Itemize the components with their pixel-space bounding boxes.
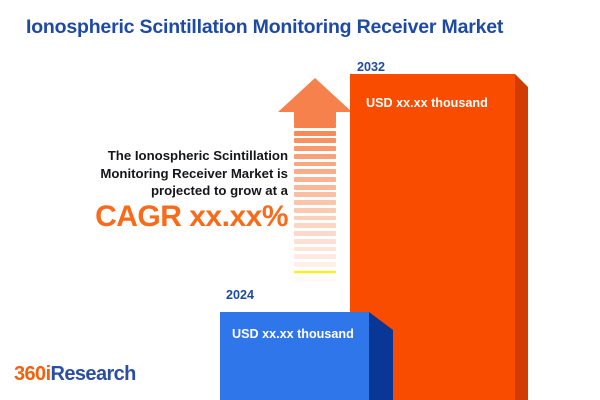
arrow-stripe	[294, 138, 336, 143]
arrow-stripe	[294, 247, 336, 252]
arrow-stripe	[294, 231, 336, 236]
arrow-stripe	[294, 146, 336, 151]
bar-2024-value-label: USD xx.xx thousand	[232, 327, 354, 341]
arrow-stripe	[294, 239, 336, 244]
arrow-stripe	[294, 254, 336, 259]
arrow-stripe	[294, 216, 336, 221]
arrow-stripe-stack	[294, 123, 336, 293]
cagr-value: CAGR xx.xx%	[48, 200, 288, 234]
growth-statement: The Ionospheric Scintillation Monitoring…	[58, 147, 288, 200]
growth-arrow-up-icon	[278, 78, 352, 293]
arrow-stripe	[294, 177, 336, 182]
brand-logo: 360iResearch	[14, 363, 136, 386]
bar-2024-face	[220, 312, 369, 400]
bar-2024-year-label: 2024	[226, 288, 254, 302]
arrow-stripe	[294, 131, 336, 136]
bar-2032-year-label: 2032	[357, 60, 385, 74]
bar-2024-side	[369, 312, 393, 400]
arrow-stripe	[294, 192, 336, 197]
arrow-stripe	[294, 123, 336, 128]
arrow-stripe-highlight	[294, 271, 336, 273]
arrow-stripe	[294, 154, 336, 159]
infographic-canvas: Ionospheric Scintillation Monitoring Rec…	[0, 0, 600, 400]
brand-logo-suffix: Research	[51, 363, 136, 385]
arrow-stripe	[294, 262, 336, 267]
arrow-stripe	[294, 162, 336, 167]
arrow-stripe	[294, 223, 336, 228]
bar-2024	[220, 312, 393, 400]
arrow-stripe	[294, 169, 336, 174]
bar-2032-side	[515, 74, 528, 400]
bar-2032-value-label: USD xx.xx thousand	[366, 96, 488, 110]
arrow-stripe	[294, 277, 336, 282]
page-title: Ionospheric Scintillation Monitoring Rec…	[26, 16, 582, 39]
arrow-stripe	[294, 200, 336, 205]
arrow-head-icon	[278, 78, 352, 123]
arrow-stripe	[294, 185, 336, 190]
brand-logo-prefix: 360i	[14, 363, 51, 385]
arrow-stripe	[294, 285, 336, 290]
arrow-stripe	[294, 208, 336, 213]
